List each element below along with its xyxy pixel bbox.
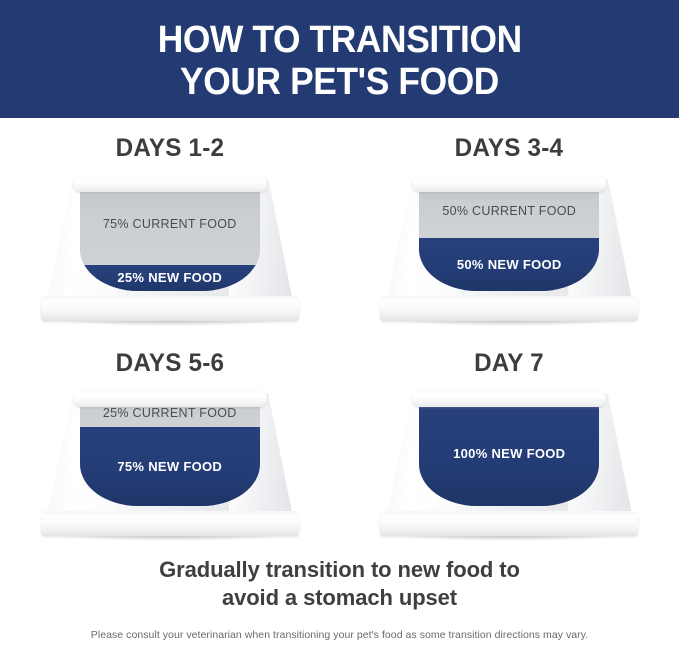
stage-label: DAYS 5-6 <box>116 349 224 378</box>
bowl-base <box>380 299 638 321</box>
bowl-base <box>41 514 299 536</box>
current-food-label: 50% CURRENT FOOD <box>436 204 582 219</box>
food-bowl-day-7: 100% NEW FOOD <box>386 388 632 536</box>
new-food-fill: 75% NEW FOOD <box>80 427 260 507</box>
bowl-rim <box>412 391 606 407</box>
footer: Gradually transition to new food to avoi… <box>0 548 679 642</box>
food-bowl-days-1-2: 75% CURRENT FOOD 25% NEW FOOD <box>47 173 293 321</box>
stage-card-days-1-2: DAYS 1-2 75% CURRENT FOOD 25% NEW FOOD <box>0 118 340 333</box>
new-food-fill: 25% NEW FOOD <box>80 265 260 292</box>
transition-stage-grid: DAYS 1-2 75% CURRENT FOOD 25% NEW FOOD D… <box>0 118 679 548</box>
bowl-rim <box>73 391 267 407</box>
current-food-label: 25% CURRENT FOOD <box>97 406 243 421</box>
current-food-fill: 75% CURRENT FOOD <box>80 185 260 265</box>
bowl-rim <box>73 176 267 192</box>
footer-tagline-line-1: Gradually transition to new food to <box>159 556 520 584</box>
stage-card-days-5-6: DAYS 5-6 25% CURRENT FOOD 75% NEW FOOD <box>0 333 340 548</box>
food-bowl-days-5-6: 25% CURRENT FOOD 75% NEW FOOD <box>47 388 293 536</box>
bowl-base <box>380 514 638 536</box>
stage-card-days-3-4: DAYS 3-4 50% CURRENT FOOD 50% NEW FOOD <box>340 118 679 333</box>
header-title-line-1: HOW TO TRANSITION <box>157 19 521 61</box>
bowl-rim <box>412 176 606 192</box>
bowl-cavity: 25% CURRENT FOOD 75% NEW FOOD <box>80 400 260 506</box>
new-food-fill: 100% NEW FOOD <box>419 400 599 506</box>
new-food-label: 50% NEW FOOD <box>451 257 568 272</box>
current-food-fill: 50% CURRENT FOOD <box>419 185 599 238</box>
header-banner: HOW TO TRANSITION YOUR PET'S FOOD <box>0 0 679 118</box>
new-food-label: 25% NEW FOOD <box>111 270 228 285</box>
bowl-cavity: 75% CURRENT FOOD 25% NEW FOOD <box>80 185 260 291</box>
new-food-fill: 50% NEW FOOD <box>419 238 599 291</box>
stage-label: DAYS 3-4 <box>455 134 563 163</box>
new-food-label: 75% NEW FOOD <box>111 459 228 474</box>
footer-tagline-line-2: avoid a stomach upset <box>222 584 457 612</box>
food-bowl-days-3-4: 50% CURRENT FOOD 50% NEW FOOD <box>386 173 632 321</box>
header-title-line-2: YOUR PET'S FOOD <box>180 61 499 103</box>
stage-card-day-7: DAY 7 100% NEW FOOD <box>340 333 679 548</box>
footer-disclaimer: Please consult your veterinarian when tr… <box>91 628 588 642</box>
stage-label: DAYS 1-2 <box>116 134 224 163</box>
current-food-label: 75% CURRENT FOOD <box>97 217 243 232</box>
new-food-label: 100% NEW FOOD <box>447 446 571 461</box>
bowl-base <box>41 299 299 321</box>
bowl-cavity: 50% CURRENT FOOD 50% NEW FOOD <box>419 185 599 291</box>
bowl-cavity: 100% NEW FOOD <box>419 400 599 506</box>
stage-label: DAY 7 <box>474 349 544 378</box>
